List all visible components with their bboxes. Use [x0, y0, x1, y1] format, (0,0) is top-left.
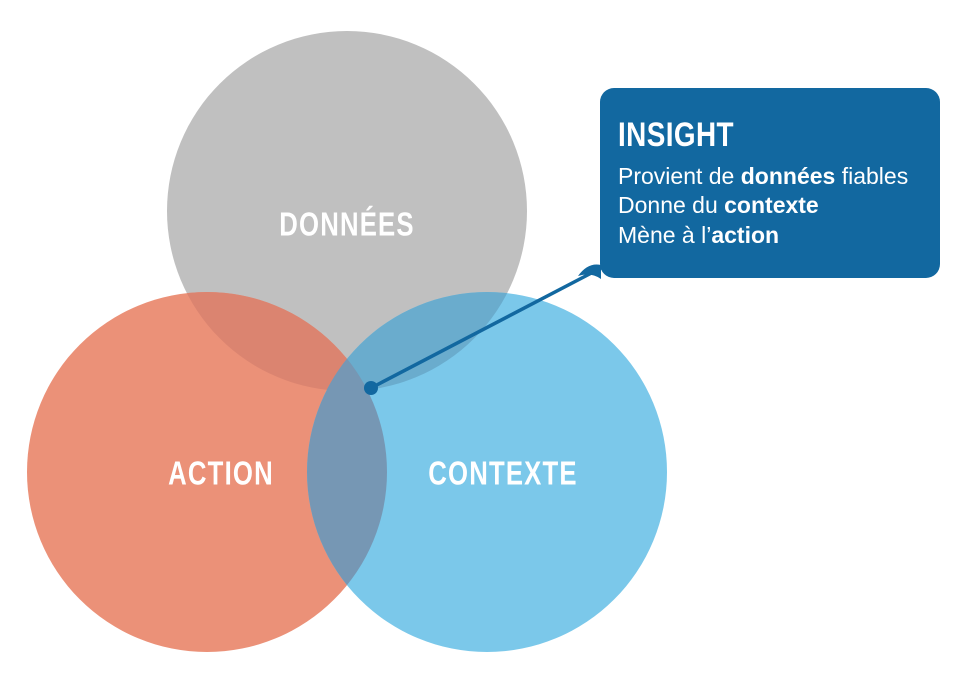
insight-callout: INSIGHT Provient de données fiables Donn… — [600, 88, 940, 278]
insight-line-1-prefix: Provient de — [618, 163, 741, 189]
insight-line-3: Mène à l’action — [618, 221, 940, 250]
insight-line-3-prefix: Mène à l’ — [618, 222, 711, 248]
insight-callout-title: INSIGHT — [618, 118, 882, 152]
insight-line-2: Donne du contexte — [618, 191, 940, 220]
insight-line-2-strong: contexte — [724, 192, 819, 218]
venn-diagram-canvas: DONNÉES ACTION CONTEXTE INSIGHT Provient… — [0, 0, 960, 688]
callout-anchor-dot — [364, 381, 378, 395]
insight-line-1: Provient de données fiables — [618, 162, 940, 191]
insight-line-1-strong: données — [741, 163, 836, 189]
insight-line-1-suffix: fiables — [835, 163, 908, 189]
insight-line-2-prefix: Donne du — [618, 192, 724, 218]
insight-line-3-strong: action — [711, 222, 779, 248]
